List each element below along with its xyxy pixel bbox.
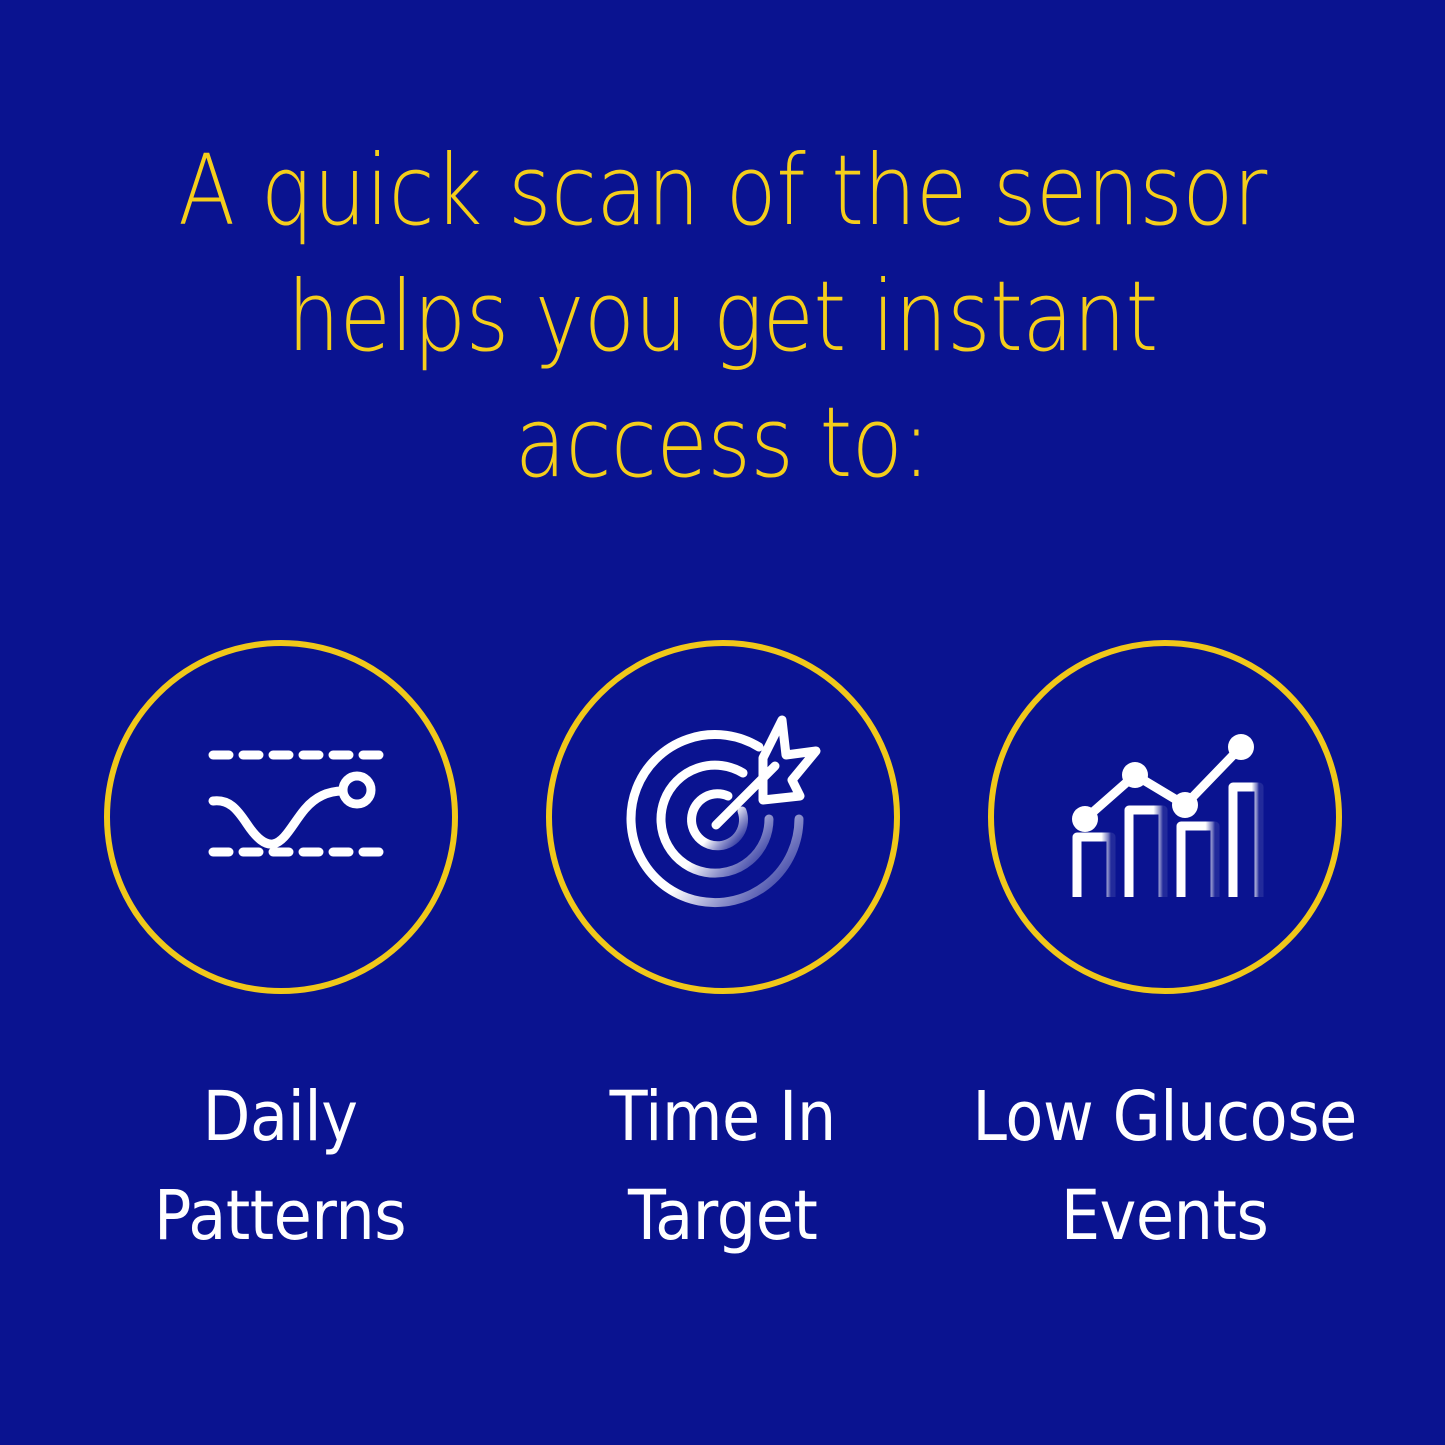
benefit-card-low-glucose-events: Low Glucose Events xyxy=(944,640,1386,1266)
trend-dot-3 xyxy=(1172,792,1198,818)
headline-line-1: A quick scan of the sensor xyxy=(101,128,1344,254)
bullseye-middle-ring xyxy=(661,765,769,873)
icon-ring-low-glucose-events xyxy=(988,640,1342,994)
time-in-target-bullseye-icon xyxy=(603,697,843,937)
bar-3 xyxy=(1181,826,1215,897)
icon-ring-time-in-target xyxy=(546,640,900,994)
benefit-card-label-low-glucose-events: Low Glucose Events xyxy=(972,1068,1357,1266)
bar-2 xyxy=(1129,810,1163,897)
glucose-current-reading-marker xyxy=(343,776,371,804)
benefit-card-daily-patterns: Daily Patterns xyxy=(60,640,502,1266)
poster-root: A quick scan of the sensor helps you get… xyxy=(0,0,1445,1445)
low-glucose-events-bar-chart-icon xyxy=(1045,697,1285,937)
bar-1 xyxy=(1077,837,1111,897)
arrow-fletching xyxy=(763,720,816,800)
benefit-cards-row: Daily Patterns xyxy=(0,640,1445,1266)
trend-dot-2 xyxy=(1122,762,1148,788)
trend-dot-4 xyxy=(1228,734,1254,760)
bar-4 xyxy=(1233,787,1259,897)
icon-ring-daily-patterns xyxy=(104,640,458,994)
page-headline: A quick scan of the sensor helps you get… xyxy=(101,128,1344,506)
headline-line-3: access to: xyxy=(101,380,1344,506)
daily-patterns-line-chart-icon xyxy=(161,697,401,937)
trend-dot-1 xyxy=(1072,806,1098,832)
benefit-card-time-in-target: Time In Target xyxy=(502,640,944,1266)
headline-line-2: helps you get instant xyxy=(101,254,1344,380)
benefit-card-label-daily-patterns: Daily Patterns xyxy=(154,1068,406,1266)
benefit-card-label-time-in-target: Time In Target xyxy=(609,1068,835,1266)
glucose-trend-curve xyxy=(213,791,343,844)
